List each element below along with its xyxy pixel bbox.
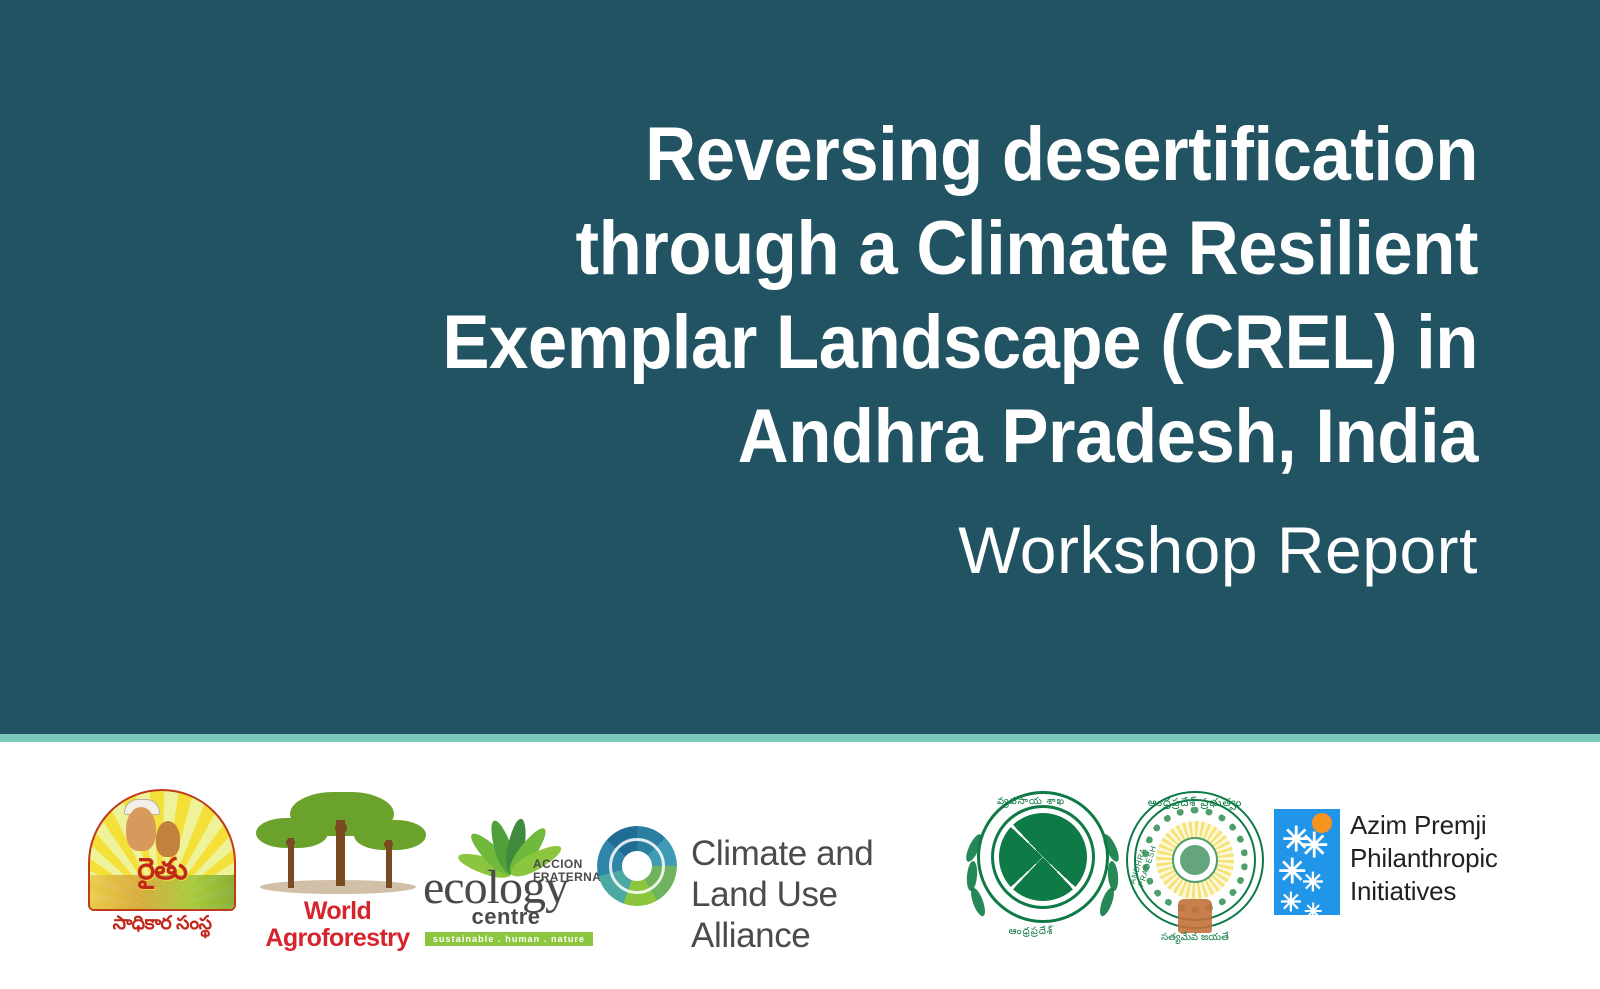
page-title: Reversing desertification through a Clim…	[158, 108, 1478, 484]
apseal-wreath-leaf-6	[1097, 886, 1117, 918]
apseal-wreath-leaf-3	[968, 886, 988, 918]
title-line-1: Reversing desertification	[250, 108, 1478, 202]
apgov-telugu-top: ఆంధ్రప్రదేశ్ ప్రభుత్వం	[1120, 797, 1270, 812]
eco-tagline-bar: sustainable . human . nature	[425, 932, 593, 946]
waf-figure-head-right-icon	[384, 840, 393, 849]
title-line-3: Exemplar Landscape (CREL) in	[250, 296, 1478, 390]
apf-star-figure-4-icon: ✳	[1302, 865, 1324, 899]
apf-star-figure-6-icon: ✳	[1304, 895, 1322, 915]
ryss-farmer-figure-icon	[126, 807, 156, 851]
hero-panel: Reversing desertification through a Clim…	[0, 0, 1600, 734]
partner-logo-row: రైతు సాధికార సంస్థ World Agroforestry	[70, 778, 1540, 953]
ryss-telugu-sub: సాధికార సంస్థ	[74, 913, 250, 935]
apf-wordmark: Azim Premji Philanthropic Initiatives	[1350, 809, 1510, 908]
apf-wordmark-line-2: Philanthropic	[1350, 843, 1498, 873]
apf-star-figure-5-icon: ✳	[1280, 885, 1302, 915]
clua-swirl-icon	[597, 826, 677, 906]
apseal-wreath-leaf-2	[966, 860, 979, 891]
apgov-lion-capital-icon	[1178, 899, 1212, 933]
waf-wordmark-line-1: World	[304, 897, 371, 925]
apgov-motto: సత్యమేవ జయతే	[1120, 931, 1270, 945]
apf-blue-square-icon: ✳ ✳ ✳ ✳ ✳ ✳	[1274, 809, 1340, 915]
waf-wordmark: World Agroforestry	[250, 898, 425, 952]
partner-logo-strip: రైతు సాధికార సంస్థ World Agroforestry	[0, 742, 1600, 989]
report-cover-slide: Reversing desertification through a Clim…	[0, 0, 1600, 989]
apseal-wreath-leaf-5	[1107, 860, 1120, 891]
ryss-farmer-figure-2-icon	[156, 821, 180, 857]
logo-azim-premji-philanthropic-initiatives: ✳ ✳ ✳ ✳ ✳ ✳ Azim Premji Philanthropic In…	[1270, 801, 1510, 931]
waf-figure-head-center-icon	[335, 822, 347, 834]
apseal-telugu-top: వ్యవసాయ శాఖ	[965, 795, 1097, 809]
apseal-telugu-bottom: ఆంధ్రప్రదేశ్	[965, 925, 1097, 939]
logo-climate-and-land-use-alliance: Climate and Land Use Alliance	[595, 806, 965, 926]
apgov-core-emblem-icon	[1180, 845, 1210, 875]
hero-text-block: Reversing desertification through a Clim…	[158, 108, 1478, 590]
logo-world-agroforestry: World Agroforestry	[250, 780, 425, 952]
eco-centre-word: centre	[453, 904, 559, 930]
accent-stripe-divider	[0, 734, 1600, 742]
clua-wordmark-line-2: Land Use Alliance	[691, 875, 838, 955]
clua-wordmark: Climate and Land Use Alliance	[691, 833, 963, 956]
logo-ap-agriculture-seal: వ్యవసాయ శాఖ ఆంధ్రప్రదేశ్	[965, 787, 1120, 945]
waf-wordmark-line-2: Agroforestry	[265, 924, 409, 952]
clua-wordmark-line-1: Climate and	[691, 834, 873, 873]
logo-government-of-andhra-pradesh: ఆంధ్రప్రదేశ్ ప్రభుత్వం ANDHRA PRADESH సత…	[1120, 787, 1270, 945]
logo-ecology-centre: ACCION FRATERNA ecology centre sustainab…	[425, 782, 595, 950]
ryss-telugu-main: రైతు	[104, 855, 220, 885]
logo-ryss: రైతు సాధికార సంస్థ	[70, 781, 250, 951]
title-line-2: through a Climate Resilient	[250, 202, 1478, 296]
title-line-4: Andhra Pradesh, India	[250, 390, 1478, 484]
waf-figure-head-left-icon	[286, 838, 295, 847]
apf-wordmark-line-1: Azim Premji	[1350, 810, 1486, 840]
page-subtitle: Workshop Report	[158, 510, 1478, 590]
apf-wordmark-line-3: Initiatives	[1350, 876, 1456, 906]
